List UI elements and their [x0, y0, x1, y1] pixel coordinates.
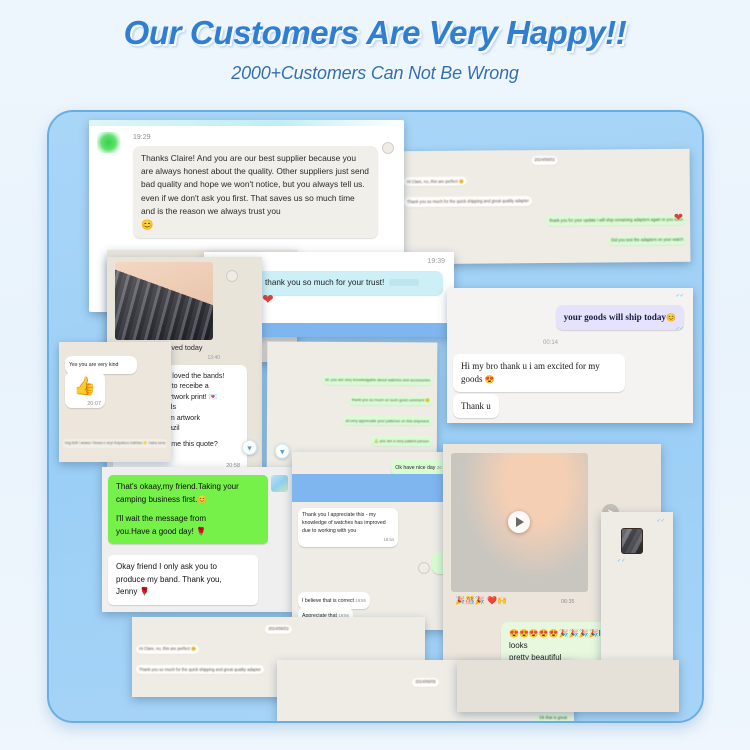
date-divider: 2024/06/02 — [136, 621, 421, 639]
message-line: I'll wait the message from — [116, 513, 260, 526]
chat-line: Did you test the adapters on your watch — [404, 232, 686, 252]
incoming-message-bubble: Thank you I appreciate this - my knowled… — [298, 508, 398, 547]
screenshot-camping-business[interactable]: That's okaay,my friend.Taking your campi… — [102, 467, 294, 612]
page-title: Our Customers Are Very Happy!! — [0, 10, 750, 56]
chat-line: Thank you so much for the quick shipping… — [404, 191, 686, 211]
message-timestamp: 19:29 — [133, 134, 151, 141]
message-timestamp: 20:07 — [69, 398, 101, 410]
chat-header-bar — [89, 120, 404, 126]
contact-avatar — [271, 475, 288, 492]
received-bands-photo[interactable] — [115, 262, 213, 340]
chat-line: 🙏 you are a very patient person. — [271, 432, 433, 451]
blurred-footer-text: img.fluff / аника / Nowa е wryt бulyatec… — [63, 439, 167, 448]
chat-line: thank you so much on such good comment 😊 — [271, 392, 433, 411]
spacer — [116, 506, 260, 513]
screenshot-photo-strip[interactable]: ✓✓ ✓✓ — [601, 512, 673, 664]
scroll-down-chevron-icon[interactable]: ▾ — [275, 444, 290, 459]
testimonial-collage-panel: 2024/06/02 Hi Clare, no, this are perfec… — [47, 110, 704, 723]
heart-reaction: ❤ — [262, 294, 274, 305]
chat-line: thank you for your update i will ship re… — [404, 212, 686, 232]
scroll-down-chevron-icon[interactable]: ▾ — [242, 440, 257, 455]
rose-emoji: 🌹 — [196, 527, 206, 536]
chat-line: Hi Clare, no, this are perfect 😊 — [404, 171, 686, 191]
message-line: camping business first. — [116, 495, 197, 504]
chat-line: Hi Clare, no, this are perfect 😊 — [136, 641, 421, 659]
message-timestamp: 18:54 — [302, 536, 394, 544]
message-text: Thanks Claire! And you are our best supp… — [141, 153, 369, 216]
message-line: you.Have a good day! — [116, 527, 194, 536]
read-receipt-icon: ✓✓ — [657, 518, 665, 524]
smile-emoji: 😊 — [666, 313, 676, 322]
heart-reaction: ❤ — [674, 213, 683, 224]
header: Our Customers Are Very Happy!! 2000+Cust… — [0, 0, 750, 90]
play-icon[interactable] — [508, 511, 530, 533]
message-text: I believe that is correct — [302, 598, 354, 604]
outgoing-message-bubble: That's okaay,my friend.Taking your campi… — [108, 475, 268, 544]
message-line: Jenny — [116, 587, 137, 596]
thumbs-up-icon: 👍 — [69, 375, 101, 397]
watch-video-thumbnail[interactable] — [451, 453, 588, 592]
message-text: thank you so much for your trust! — [265, 278, 384, 287]
date-divider: 2024/06/02 — [404, 151, 686, 171]
screenshot-perfect-adapter-top[interactable]: 2024/06/02 Hi Clare, no, this are perfec… — [400, 149, 691, 265]
screenshot-blank-card[interactable] — [457, 660, 679, 712]
smile-emoji: 😊 — [197, 495, 207, 504]
chat-line: sir, you are very knowledgable about wat… — [271, 372, 433, 391]
outgoing-message-bubble: thank you so much for your trust! — [257, 271, 443, 295]
read-receipt-icon: ✓✓ — [676, 293, 684, 299]
thumbs-up-bubble: 👍 20:07 — [65, 372, 105, 408]
message-text: Thank u — [461, 401, 491, 411]
incoming-message-bubble: Okay friend I only ask you to produce my… — [108, 555, 258, 605]
message-line: Okay friend I only ask you to — [116, 561, 250, 574]
message-timestamp: 19:55 — [355, 598, 365, 603]
page-subtitle: 2000+Customers Can Not Be Wrong — [0, 56, 750, 90]
photo-timestamp: 13:40 — [207, 355, 220, 361]
screenshot-knowledge-improved[interactable]: Ok have nice day 20:11 Thank you I appre… — [292, 452, 460, 630]
smile-emoji: 😊 — [141, 219, 370, 232]
message-line: That's okaay,my friend.Taking your — [116, 481, 260, 494]
thumbnail-photo[interactable] — [621, 528, 643, 554]
emoji-reaction-button[interactable] — [226, 270, 238, 282]
read-receipt-icon: ✓✓ — [617, 558, 625, 564]
incoming-message-bubble: Thanks Claire! And you are our best supp… — [133, 146, 378, 238]
rose-emoji: 🌹 — [140, 587, 150, 596]
incoming-message-bubble: Thank u — [453, 394, 499, 418]
screenshot-ship-today[interactable]: ✓✓ your goods will ship today😊 ✓✓ 00:14 … — [447, 288, 693, 423]
message-timestamp: 19:39 — [427, 258, 445, 265]
chat-line: sir,very appreciate your patience on thi… — [271, 412, 433, 431]
message-text: Ok have nice day — [395, 465, 435, 471]
video-timestamp: 06:35 — [561, 599, 575, 605]
message-text: Yes you are very kind — [69, 362, 118, 368]
message-text: your goods will ship today — [564, 312, 666, 322]
screenshot-very-kind[interactable]: Yes you are very kind 👍 20:07 img.fluff … — [59, 342, 171, 462]
emoji-reaction-button[interactable] — [382, 142, 394, 154]
overlay-band — [292, 474, 460, 502]
emoji-reaction-button[interactable] — [418, 562, 430, 574]
video-reactions: 🎉🎊🎉 ❤️🙌 — [455, 596, 507, 605]
redacted-name — [389, 279, 419, 286]
message-text: Thank you I appreciate this - my knowled… — [302, 512, 386, 534]
message-text: Hi my bro thank u i am excited for my go… — [461, 361, 600, 384]
read-receipt-icon: ✓✓ — [676, 326, 684, 332]
outgoing-message-bubble: your goods will ship today😊 — [556, 305, 684, 330]
contact-avatar — [97, 132, 120, 153]
incoming-message-bubble: Hi my bro thank u i am excited for my go… — [453, 354, 625, 392]
message-timestamp: 00:14 — [543, 340, 558, 346]
heart-eyes-emoji: 😍 — [485, 375, 495, 384]
celebration-emojis: 😍😍😍😍😍🎉🎉🎉🎉 — [509, 629, 599, 638]
message-line: produce my band. Thank you, — [116, 574, 250, 587]
